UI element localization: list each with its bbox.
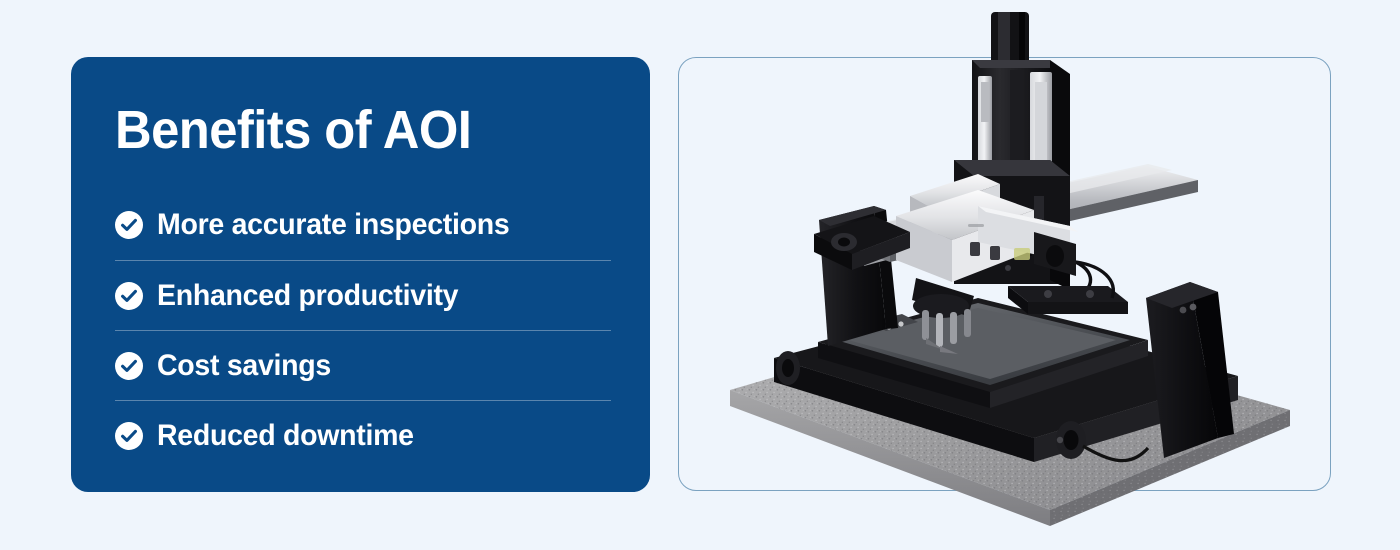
check-circle-icon	[115, 352, 143, 380]
benefits-list: More accurate inspections Enhanced produ…	[115, 190, 611, 470]
list-item-label: Enhanced productivity	[157, 281, 458, 311]
list-item: More accurate inspections	[115, 190, 611, 260]
image-panel-frame	[678, 57, 1331, 491]
check-circle-icon	[115, 282, 143, 310]
benefits-banner: Benefits of AOI More accurate inspection…	[0, 0, 1400, 550]
list-item: Cost savings	[115, 330, 611, 400]
benefits-panel: Benefits of AOI More accurate inspection…	[71, 57, 650, 492]
page-title: Benefits of AOI	[115, 103, 618, 157]
check-circle-icon	[115, 211, 143, 239]
list-item: Reduced downtime	[115, 400, 611, 470]
list-item: Enhanced productivity	[115, 260, 611, 330]
list-item-label: Reduced downtime	[157, 421, 414, 451]
check-circle-icon	[115, 422, 143, 450]
list-item-label: More accurate inspections	[157, 210, 509, 240]
list-item-label: Cost savings	[157, 351, 331, 381]
